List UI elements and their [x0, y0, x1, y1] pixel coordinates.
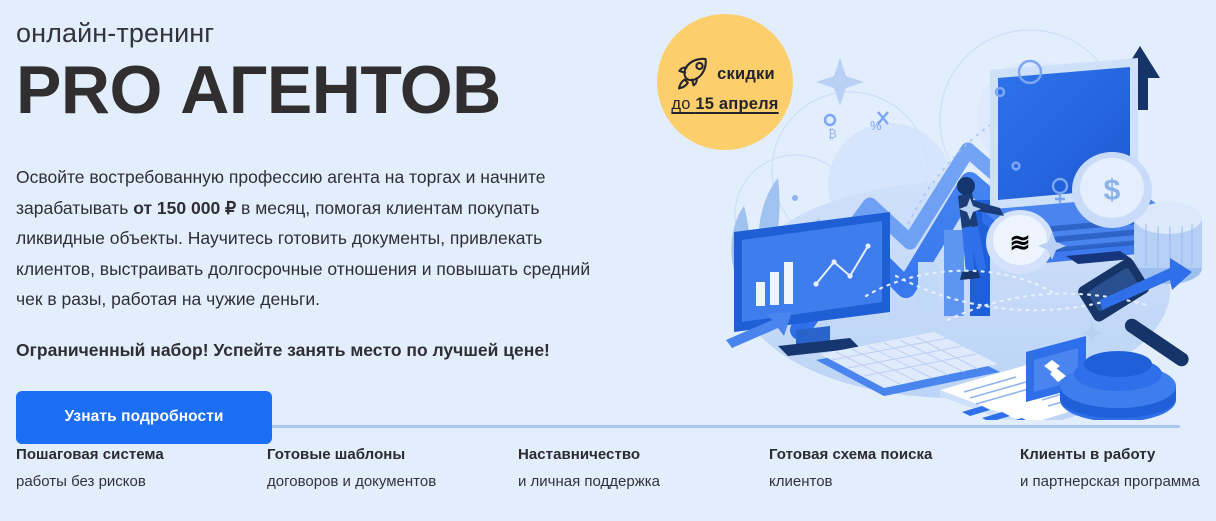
feature-subtitle: и личная поддержка — [518, 470, 748, 493]
feature-subtitle: и партнерская программа — [1020, 470, 1216, 493]
lead-price-highlight: от 150 000 ₽ — [133, 198, 236, 218]
feature-item: Готовая схема поиска клиентов — [769, 444, 999, 493]
feature-subtitle: договоров и документов — [267, 470, 497, 493]
hero-copy: онлайн-тренинг PRO АГЕНТОВ Освойте востр… — [16, 16, 656, 444]
svg-text:%: % — [870, 118, 882, 133]
limited-seats-note: Ограниченный набор! Успейте занять место… — [16, 337, 656, 363]
svg-text:₿: ₿ — [828, 127, 837, 141]
feature-list: Пошаговая система работы без рисков Гото… — [16, 444, 1200, 493]
rocket-icon — [673, 54, 713, 94]
hero-section: $ ≋ — [0, 0, 1216, 521]
discount-label: скидки — [717, 65, 775, 84]
discount-badge-line-1: скидки — [673, 54, 775, 94]
hero-description: Освойте востребованную профессию агента … — [16, 162, 616, 315]
feature-item: Клиенты в работу и партнерская программа — [1020, 444, 1216, 493]
feature-item: Готовые шаблоны договоров и документов — [267, 444, 497, 493]
feature-title: Наставничество — [518, 444, 748, 465]
svg-text:$: $ — [1104, 174, 1121, 207]
feature-subtitle: работы без рисков — [16, 470, 246, 493]
learn-more-button[interactable]: Узнать подробности — [16, 391, 272, 444]
discount-badge-content: скидки до 15 апреля — [657, 14, 793, 150]
feature-title: Готовая схема поиска — [769, 444, 999, 465]
feature-subtitle: клиентов — [769, 470, 999, 493]
eyebrow-text: онлайн-тренинг — [16, 16, 656, 50]
discount-until-prefix: до — [671, 95, 695, 113]
discount-until-date: 15 апреля — [695, 95, 778, 113]
feature-item: Наставничество и личная поддержка — [518, 444, 748, 493]
feature-title: Клиенты в работу — [1020, 444, 1216, 465]
feature-item: Пошаговая система работы без рисков — [16, 444, 246, 493]
feature-title: Пошаговая система — [16, 444, 246, 465]
feature-title: Готовые шаблоны — [267, 444, 497, 465]
discount-badge[interactable]: скидки до 15 апреля — [657, 14, 793, 150]
svg-text:≋: ≋ — [1010, 229, 1031, 257]
discount-badge-line-2: до 15 апреля — [671, 95, 778, 114]
page-title: PRO АГЕНТОВ — [16, 52, 656, 128]
